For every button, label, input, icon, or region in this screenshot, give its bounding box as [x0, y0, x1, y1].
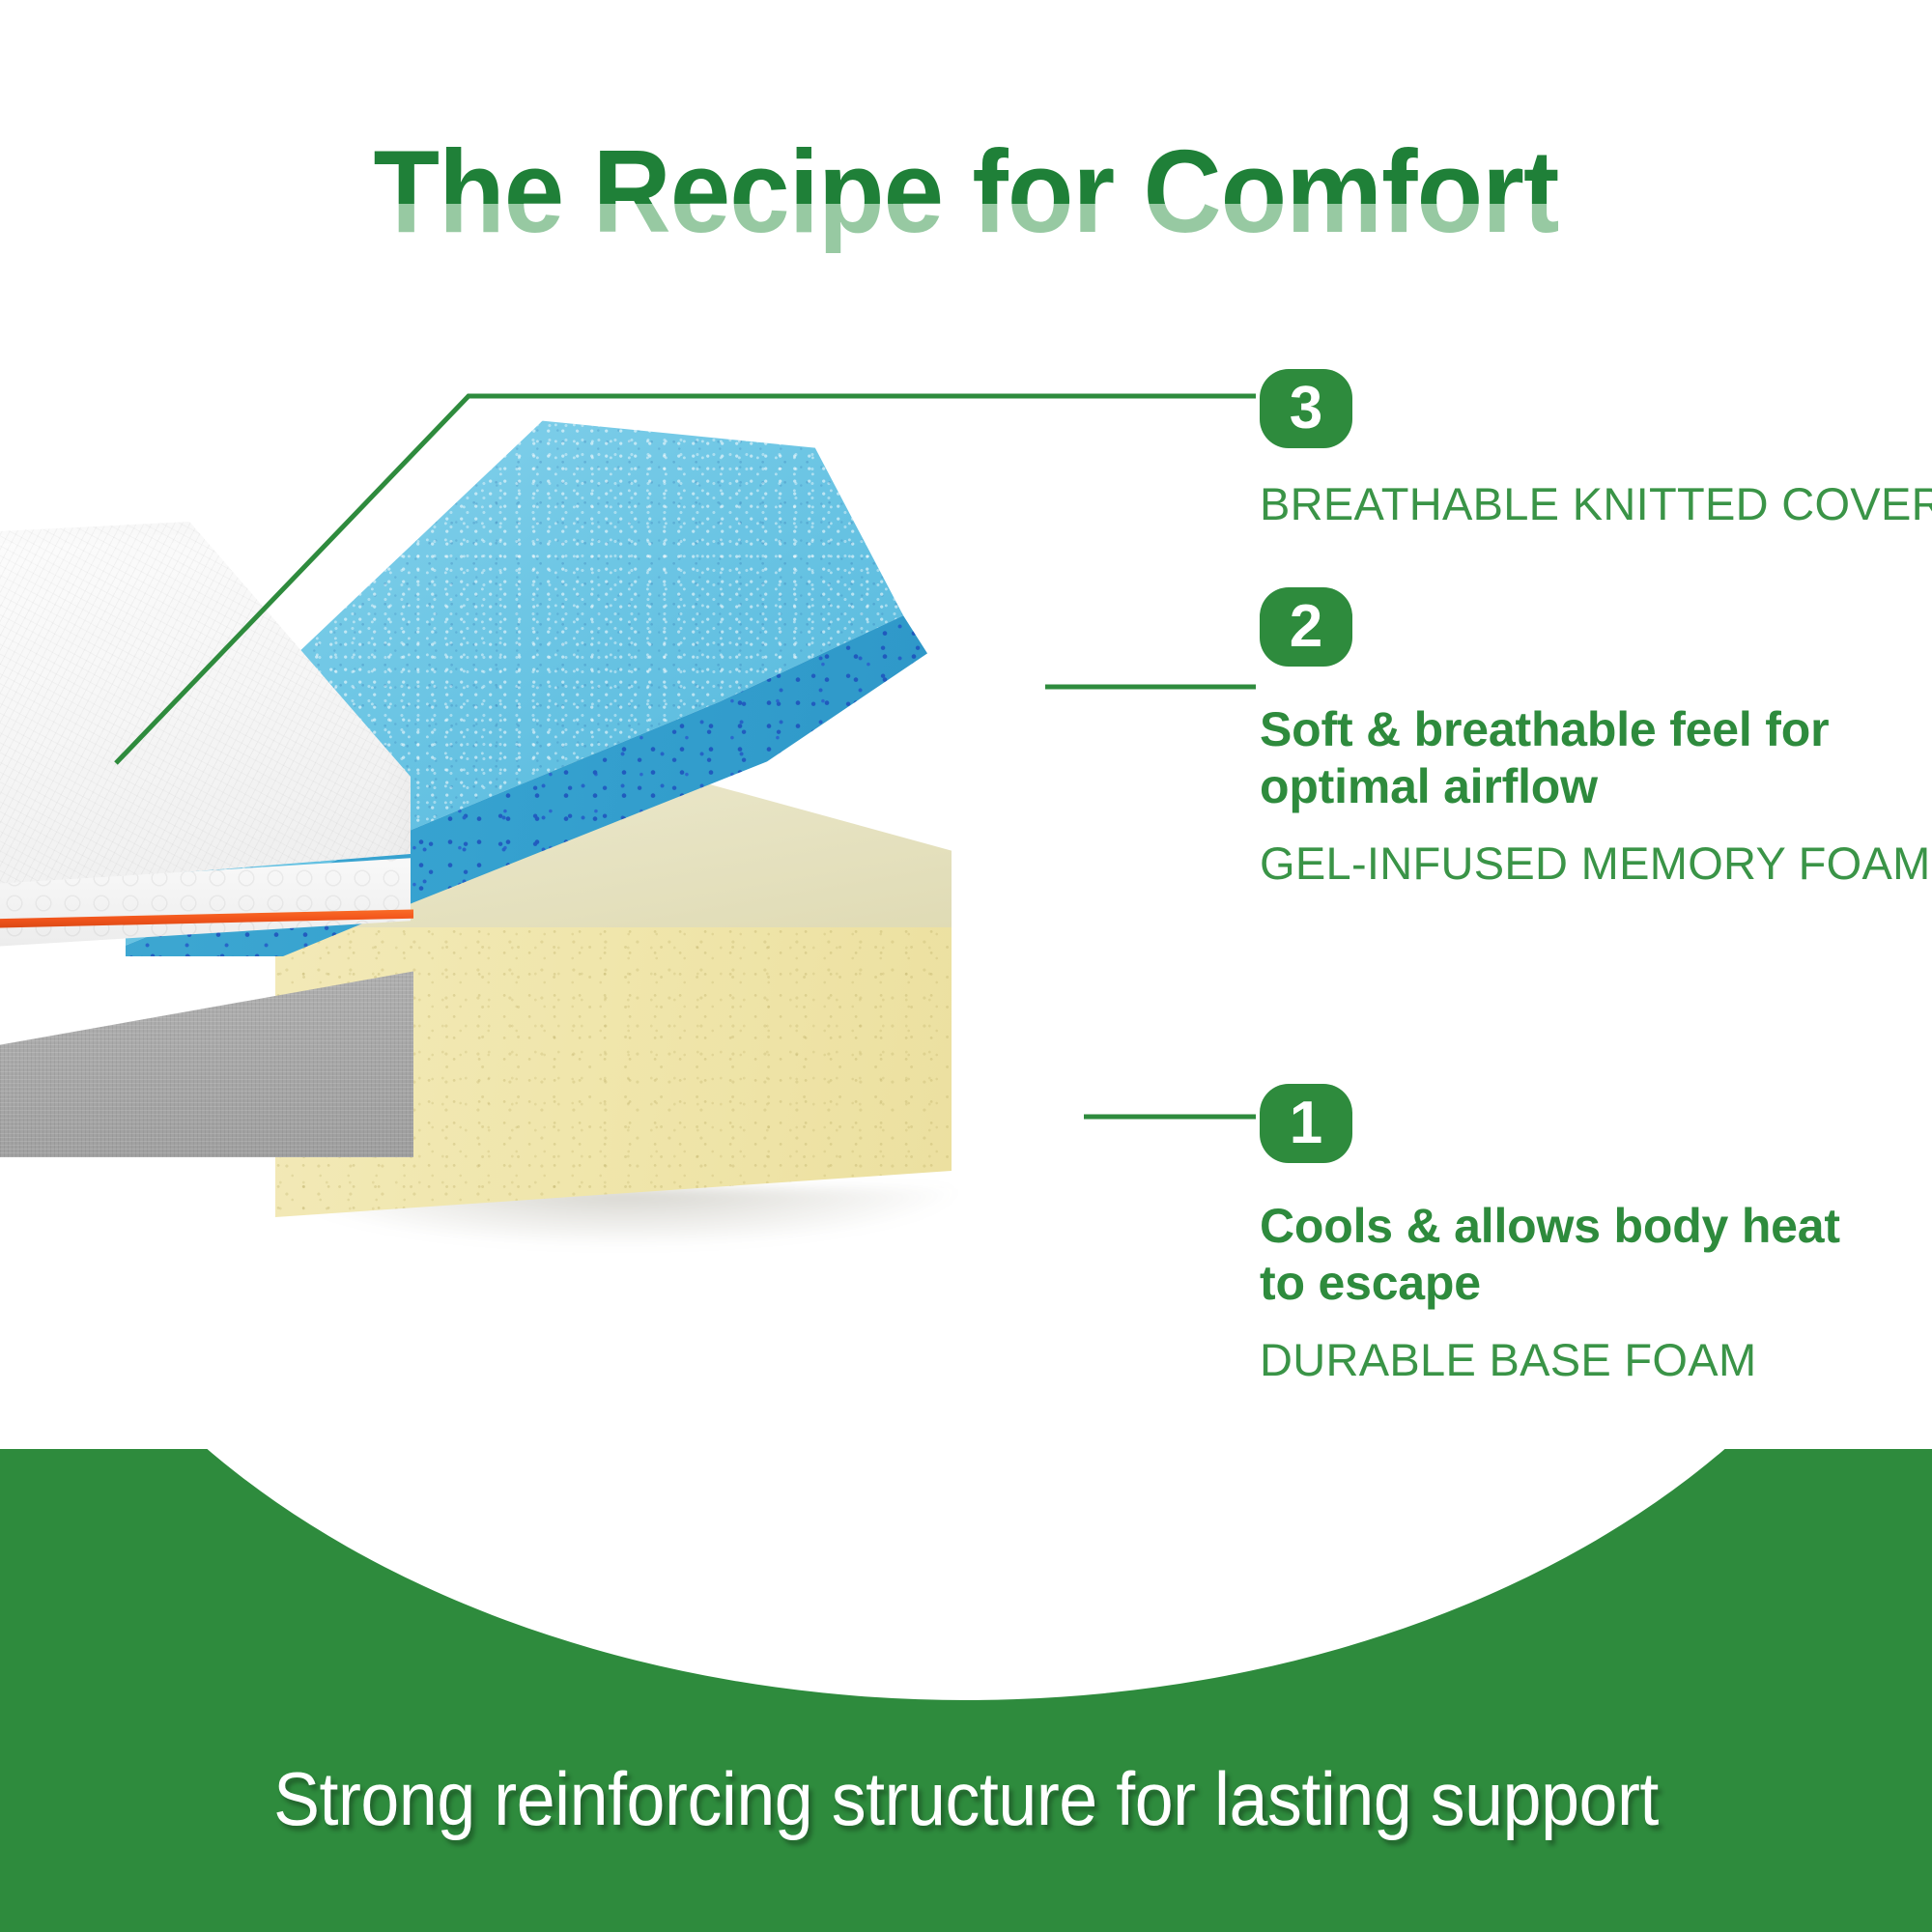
callout-2-badge: 2 — [1260, 587, 1352, 667]
callout-1-badge: 1 — [1260, 1084, 1352, 1163]
callout-3: 3 BREATHABLE KNITTED COVER — [1260, 369, 1932, 531]
mattress-cutaway-illustration — [0, 415, 1159, 1323]
callout-3-caption: BREATHABLE KNITTED COVER — [1260, 477, 1932, 531]
banner-dome-cutout — [0, 1449, 1932, 1700]
callout-3-badge: 3 — [1260, 369, 1352, 448]
banner-text: Strong reinforcing structure for lasting… — [77, 1755, 1855, 1843]
knitted-cover-corner — [0, 522, 425, 1121]
page-title: The Recipe for Comfort — [77, 129, 1855, 253]
callout-2-description: Soft & breathable feel for optimal airfl… — [1260, 701, 1931, 815]
callout-1: 1 Cools & allows body heat to escape DUR… — [1260, 1084, 1840, 1387]
cover-top-surface — [0, 522, 411, 908]
callout-2-caption: GEL-INFUSED MEMORY FOAM — [1260, 837, 1931, 891]
callout-2: 2 Soft & breathable feel for optimal air… — [1260, 587, 1931, 891]
infographic-page: The Recipe for Comfort 3 BREATHABLE KNIT… — [0, 0, 1932, 1932]
grey-fabric-side-panel — [0, 916, 413, 1157]
bottom-banner — [0, 1449, 1932, 1932]
callout-1-description: Cools & allows body heat to escape — [1260, 1198, 1840, 1312]
callout-1-caption: DURABLE BASE FOAM — [1260, 1333, 1840, 1387]
